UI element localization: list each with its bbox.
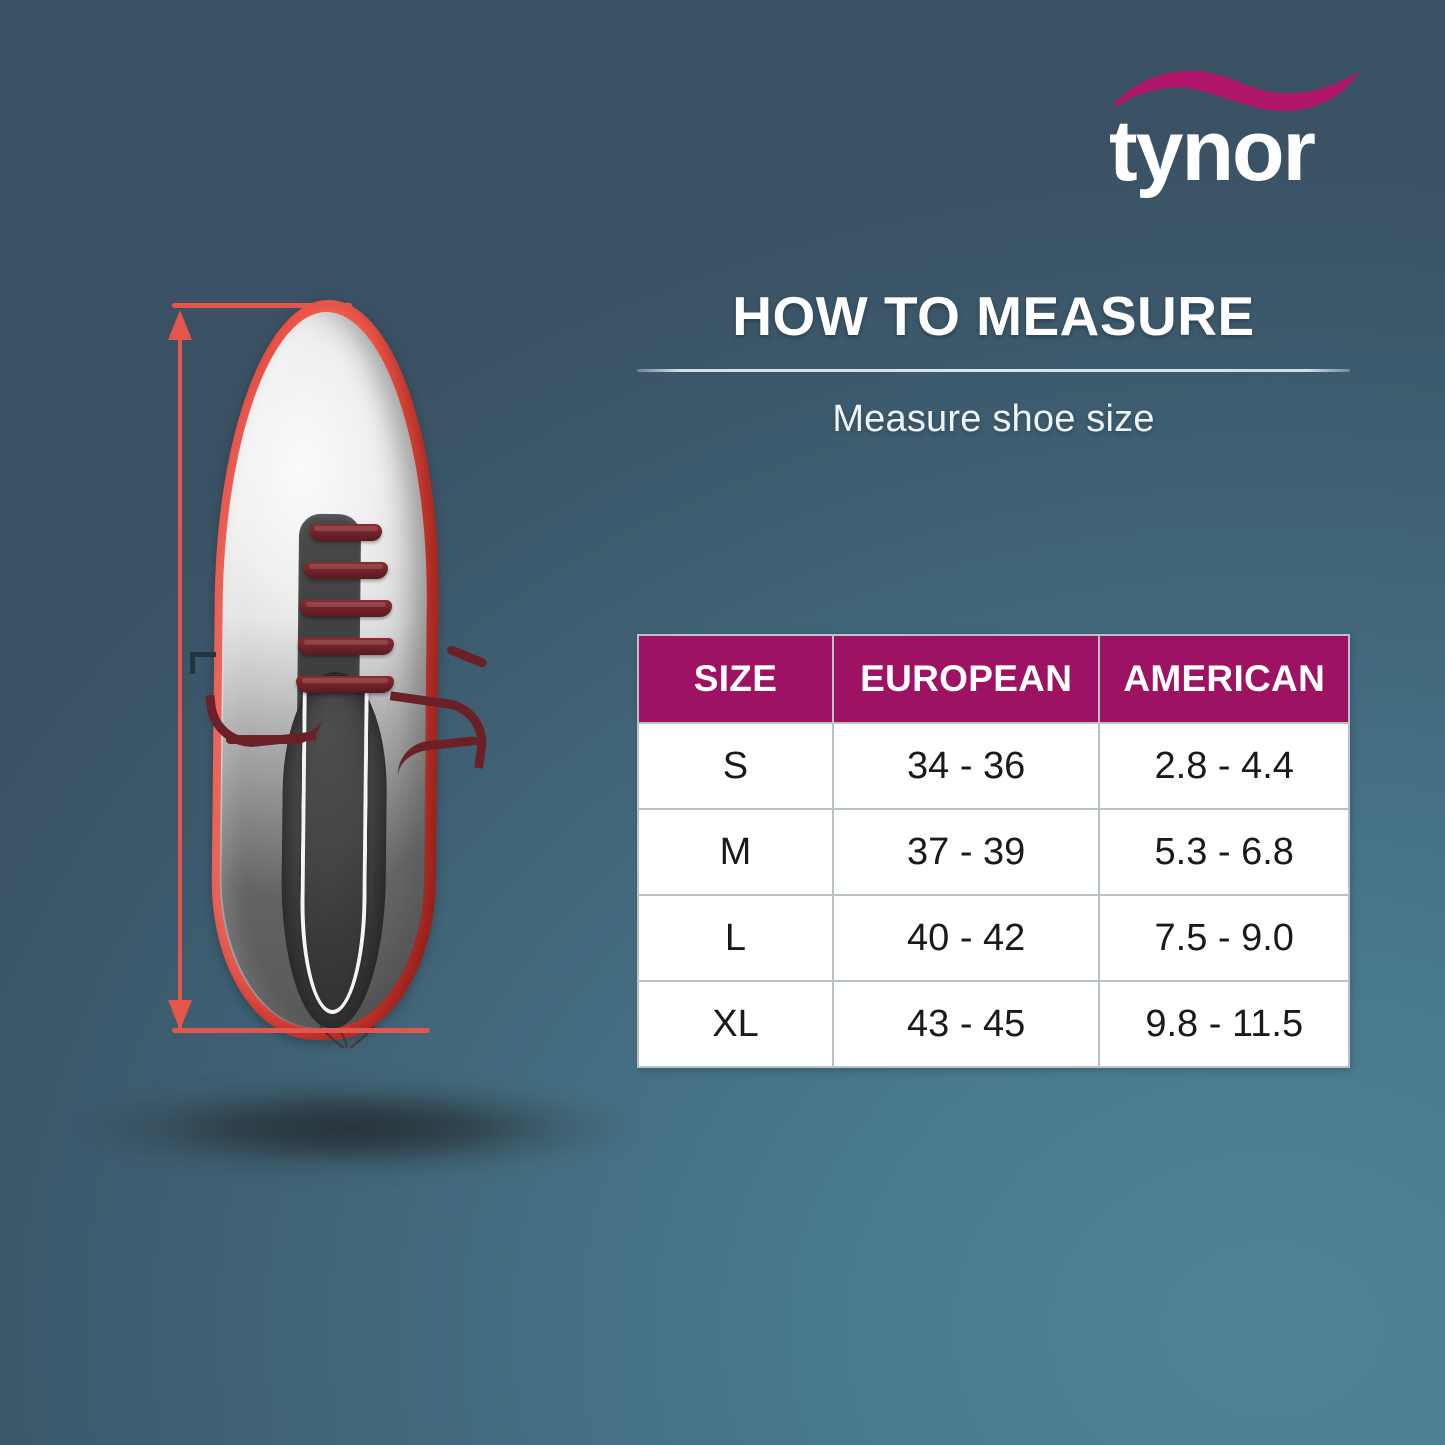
- shoe-illustration: [0, 0, 620, 1300]
- cell-size: S: [638, 723, 833, 809]
- table-row: XL 43 - 45 9.8 - 11.5: [638, 981, 1349, 1067]
- cell-size: M: [638, 809, 833, 895]
- size-chart-table: SIZE EUROPEAN AMERICAN S 34 - 36 2.8 - 4…: [637, 634, 1350, 1068]
- shoe-lace-band-1: [310, 524, 382, 541]
- cell-european: 43 - 45: [833, 981, 1099, 1067]
- cell-european: 34 - 36: [833, 723, 1099, 809]
- shoe-lace-band-3: [300, 600, 392, 617]
- column-header-size: SIZE: [638, 635, 833, 723]
- column-header-american: AMERICAN: [1099, 635, 1349, 723]
- cell-size: XL: [638, 981, 833, 1067]
- poster-canvas: tynor HOW TO: [0, 0, 1445, 1445]
- shoe-lace-aglet-right: [446, 644, 488, 668]
- measure-arrow-head-up-icon: [168, 310, 192, 340]
- cell-size: L: [638, 895, 833, 981]
- brand-logo: tynor: [1105, 50, 1395, 200]
- shoe-lace-band-2: [304, 562, 388, 579]
- shoe-lace-band-4: [298, 638, 394, 655]
- measure-arrow-shaft: [178, 318, 182, 1030]
- title-divider: [637, 369, 1350, 372]
- cell-european: 40 - 42: [833, 895, 1099, 981]
- brand-wordmark: tynor: [1109, 108, 1314, 194]
- table-row: M 37 - 39 5.3 - 6.8: [638, 809, 1349, 895]
- table-row: S 34 - 36 2.8 - 4.4: [638, 723, 1349, 809]
- measure-top-tick: [172, 303, 352, 308]
- page-title: HOW TO MEASURE: [637, 286, 1350, 347]
- column-header-european: EUROPEAN: [833, 635, 1099, 723]
- table-header-row: SIZE EUROPEAN AMERICAN: [638, 635, 1349, 723]
- page-subtitle: Measure shoe size: [637, 398, 1350, 441]
- measure-bottom-tick: [172, 1028, 430, 1033]
- cell-american: 9.8 - 11.5: [1099, 981, 1349, 1067]
- cell-american: 7.5 - 9.0: [1099, 895, 1349, 981]
- measure-arrow-head-down-icon: [168, 1000, 192, 1030]
- cell-european: 37 - 39: [833, 809, 1099, 895]
- cell-american: 5.3 - 6.8: [1099, 809, 1349, 895]
- how-to-measure-panel: HOW TO MEASURE Measure shoe size: [637, 286, 1350, 441]
- shoe-ground-shadow: [70, 1078, 640, 1178]
- table-row: L 40 - 42 7.5 - 9.0: [638, 895, 1349, 981]
- shoe-lace-strand-left-2: [226, 716, 322, 744]
- measure-corner-mark-icon: [190, 652, 216, 674]
- cell-american: 2.8 - 4.4: [1099, 723, 1349, 809]
